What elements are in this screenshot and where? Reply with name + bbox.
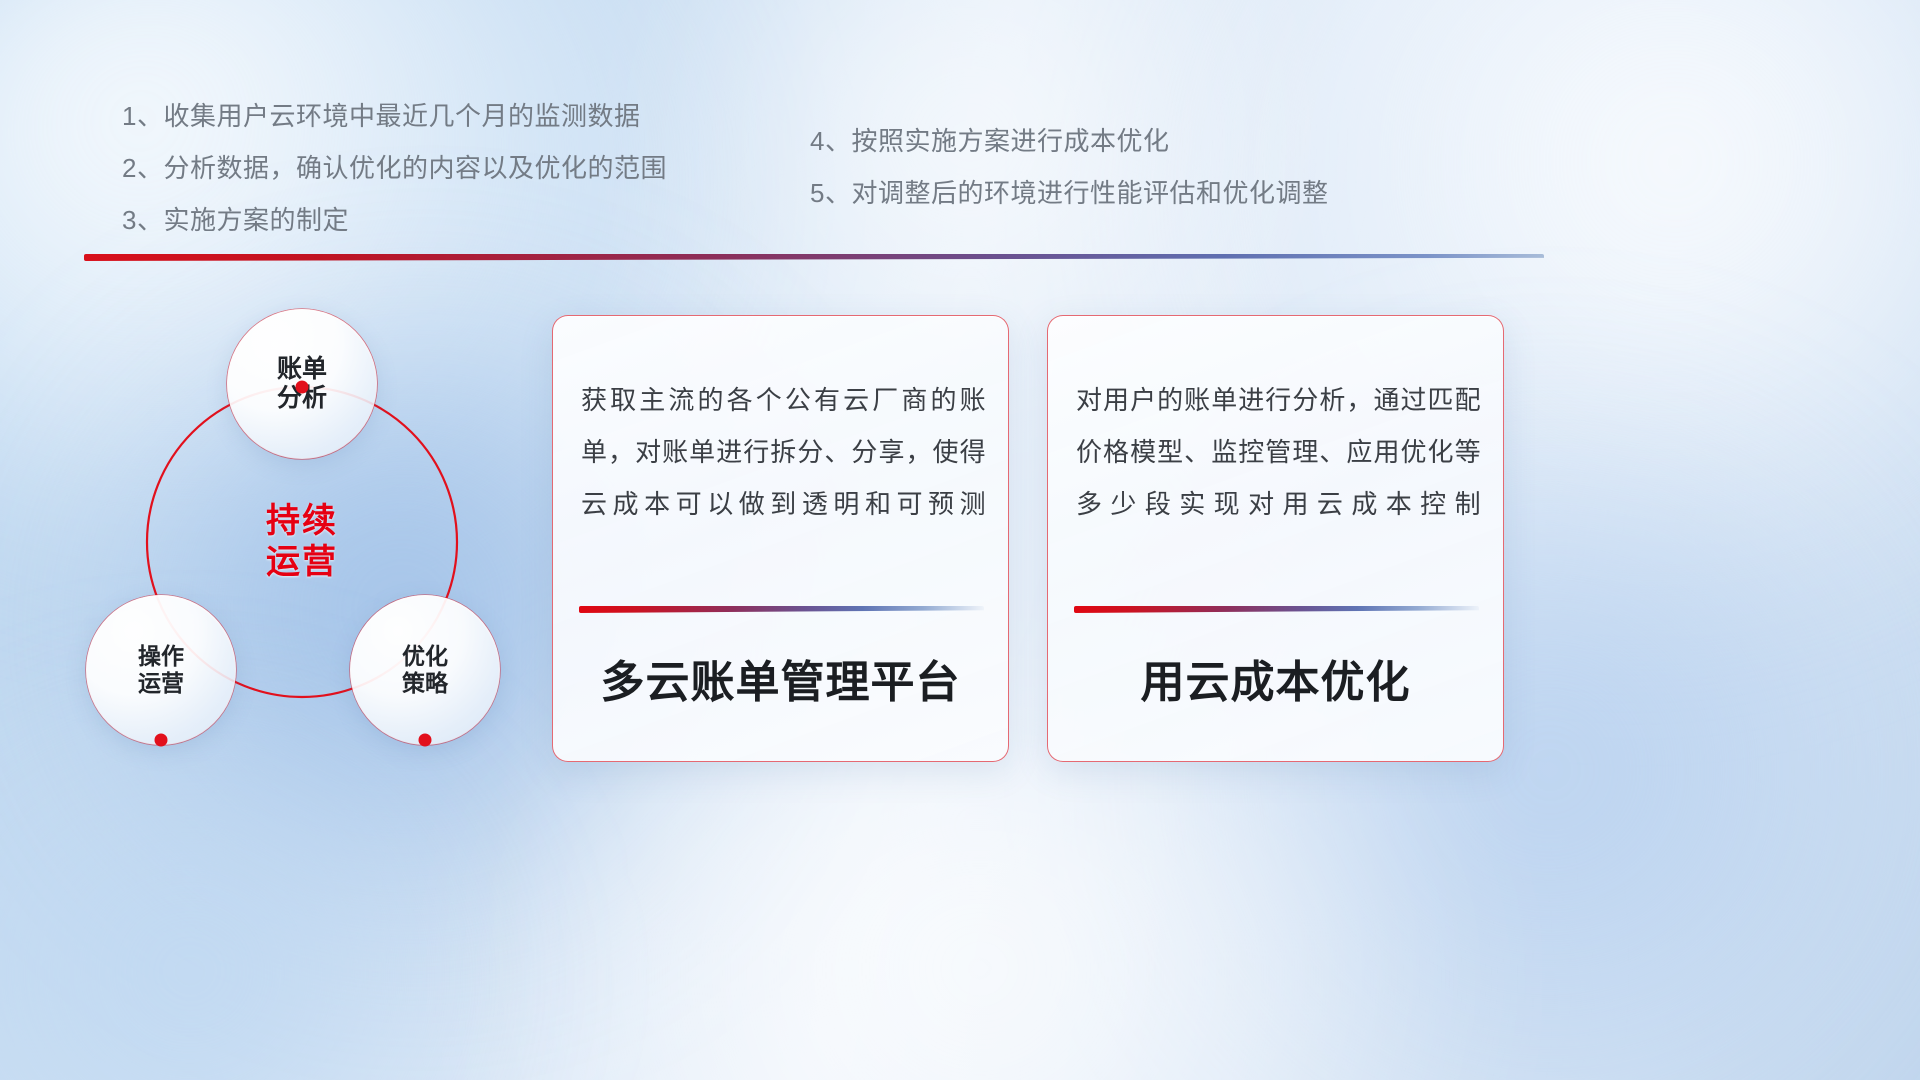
- card-divider-rule: [579, 606, 984, 613]
- step-item: 5、对调整后的环境进行性能评估和优化调整: [810, 180, 1328, 206]
- steps-right-column: 4、按照实施方案进行成本优化 5、对调整后的环境进行性能评估和优化调整: [810, 128, 1328, 232]
- card-body-text: 获取主流的各个公有云厂商的账单，对账单进行拆分、分享，使得云成本可以做到透明和可…: [581, 374, 986, 530]
- card-body-text: 对用户的账单进行分析，通过匹配价格模型、监控管理、应用优化等多少段实现对用云成本…: [1076, 374, 1481, 530]
- step-item: 1、收集用户云环境中最近几个月的监测数据: [122, 103, 667, 129]
- card-divider-rule: [1074, 606, 1479, 613]
- marker-dot-top: [296, 381, 309, 394]
- diagram-markers-svg: [80, 290, 550, 770]
- marker-dot-left: [155, 734, 168, 747]
- card-title: 多云账单管理平台: [553, 646, 1008, 710]
- step-item: 4、按照实施方案进行成本优化: [810, 128, 1328, 154]
- step-item: 3、实施方案的制定: [122, 207, 667, 233]
- feature-card-cloud-cost-optimization[interactable]: 对用户的账单进行分析，通过匹配价格模型、监控管理、应用优化等多少段实现对用云成本…: [1047, 315, 1504, 762]
- feature-card-multicloud-billing[interactable]: 获取主流的各个公有云厂商的账单，对账单进行拆分、分享，使得云成本可以做到透明和可…: [552, 315, 1009, 762]
- continuous-operation-diagram: 账单 分析 操作 运营 优化 策略 持续 运营: [80, 290, 550, 770]
- steps-left-column: 1、收集用户云环境中最近几个月的监测数据 2、分析数据，确认优化的内容以及优化的…: [122, 103, 667, 259]
- marker-dot-right: [419, 734, 432, 747]
- step-item: 2、分析数据，确认优化的内容以及优化的范围: [122, 155, 667, 181]
- card-title: 用云成本优化: [1048, 646, 1503, 710]
